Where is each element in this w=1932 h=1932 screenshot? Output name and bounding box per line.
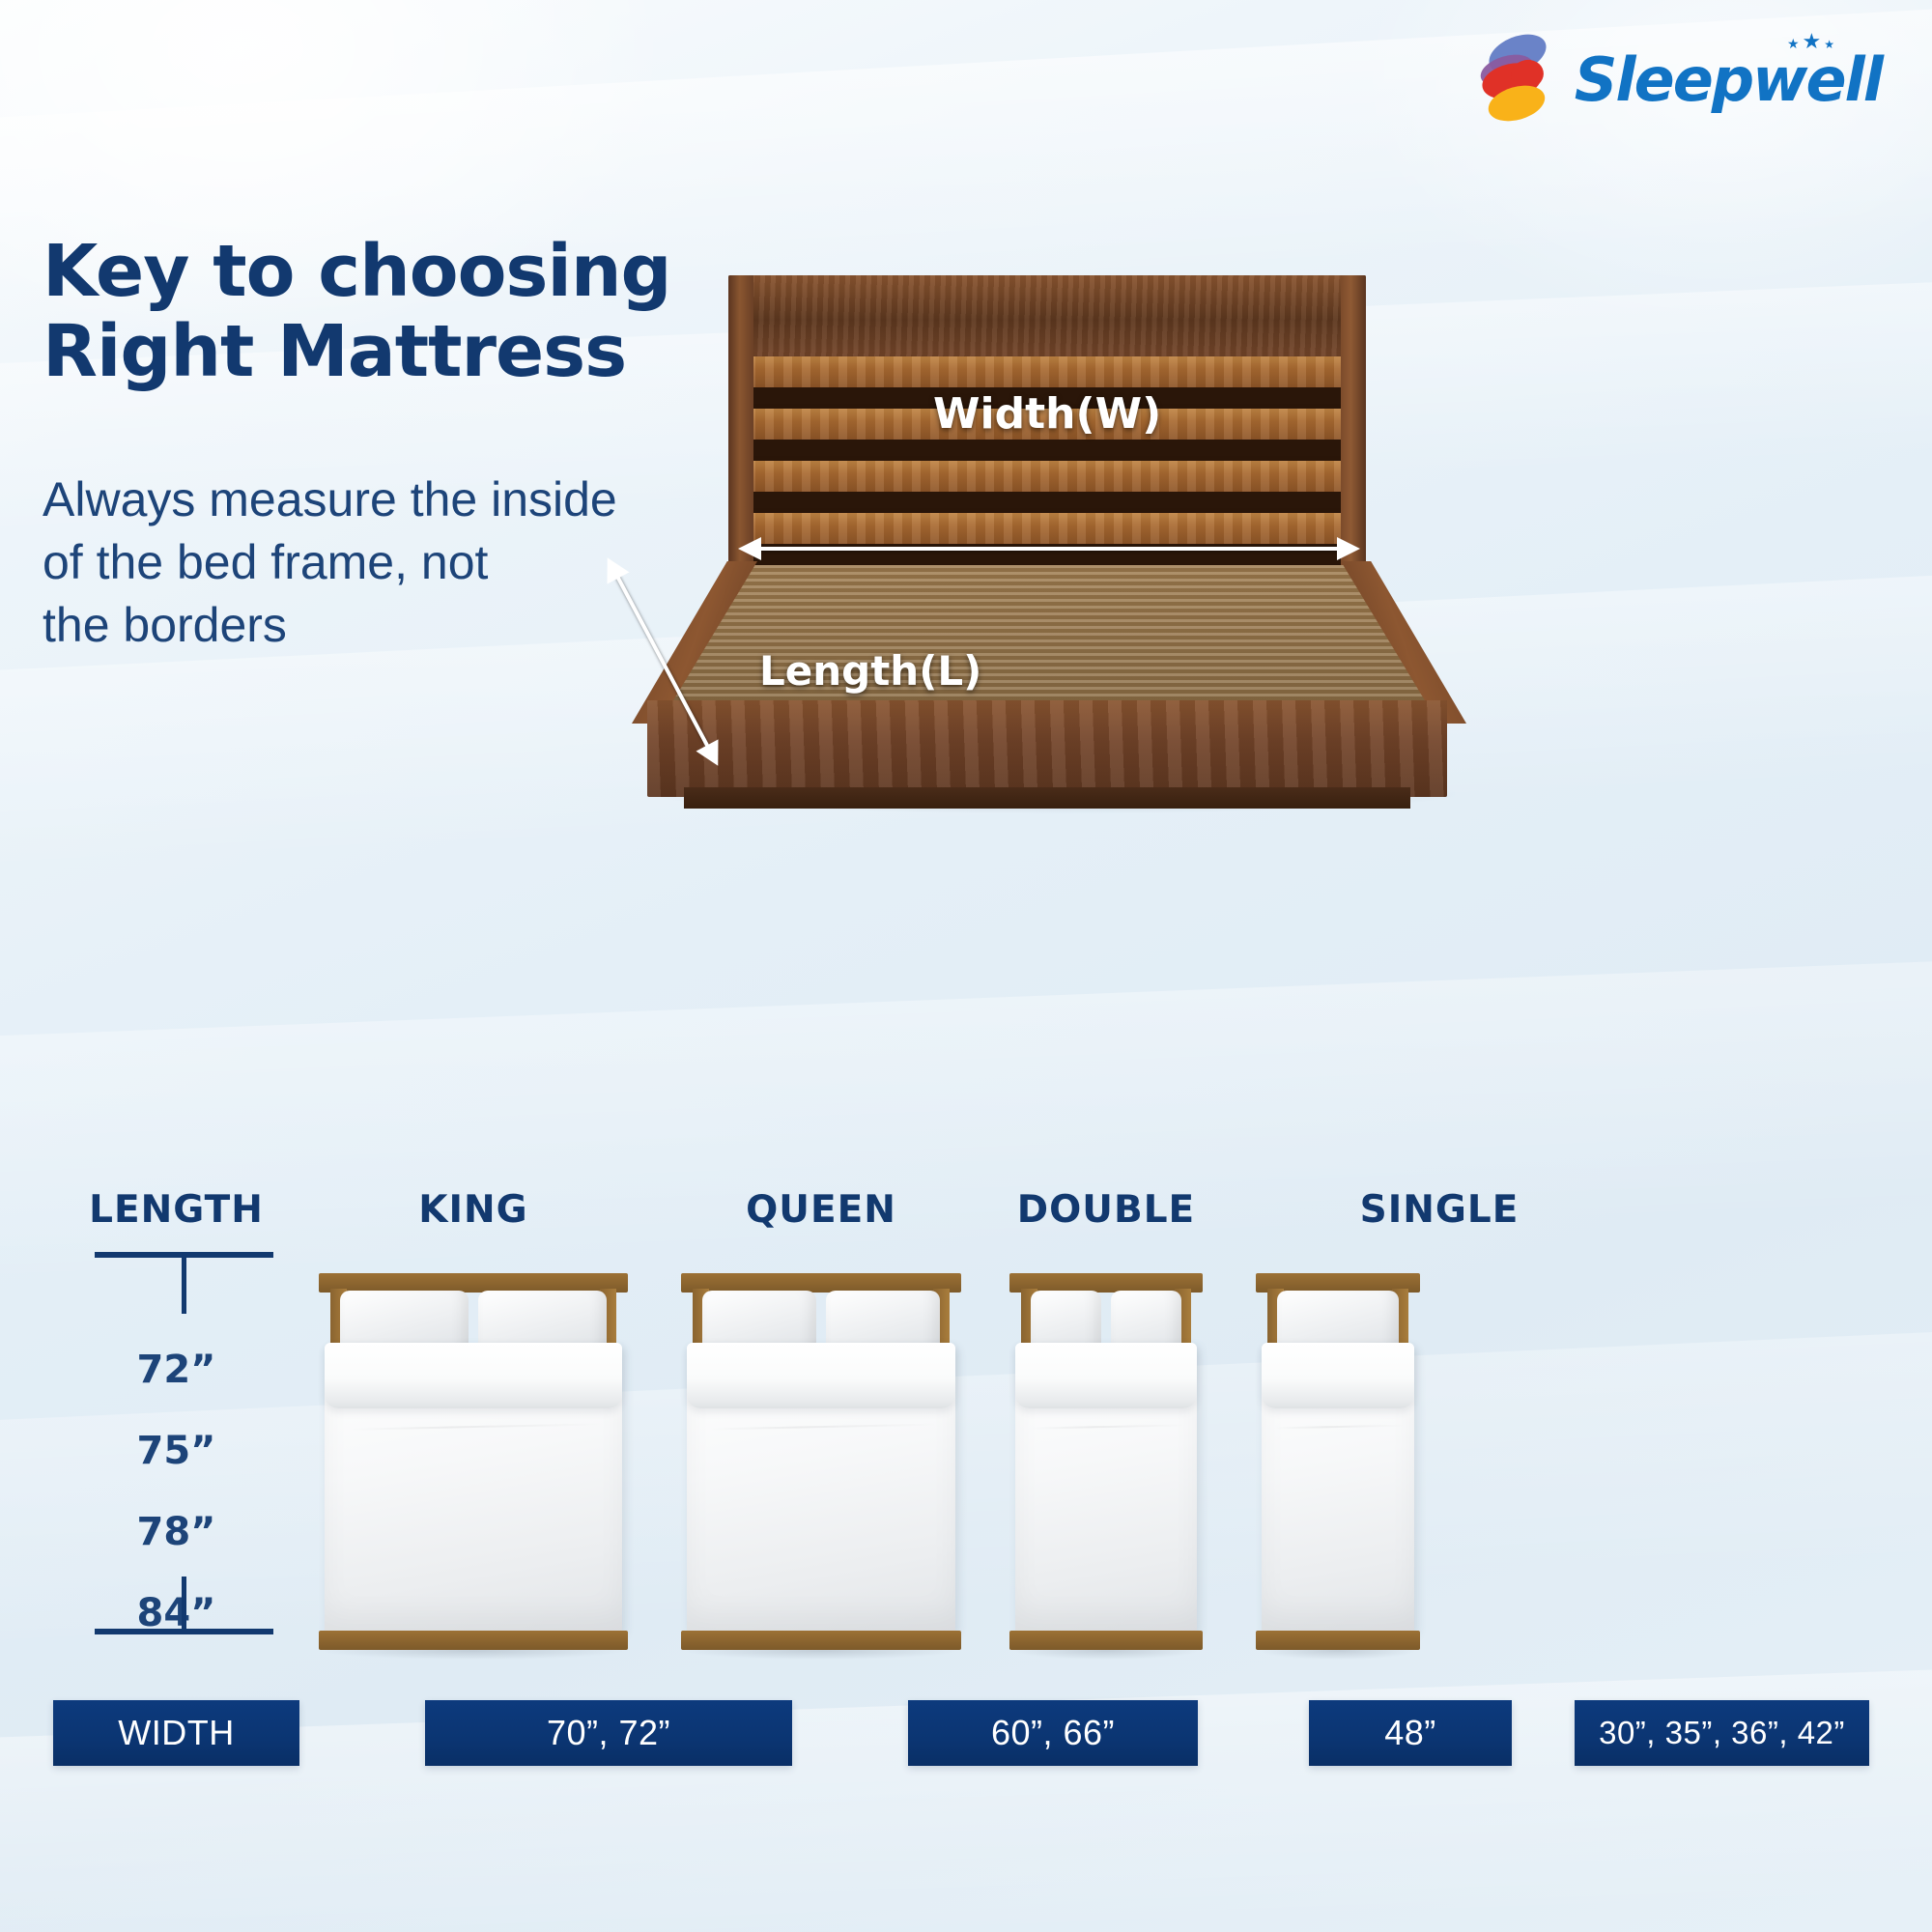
headline-line-2: Right Mattress <box>43 312 699 392</box>
bed-column-title: QUEEN <box>681 1188 961 1232</box>
bed-graphic-headboard <box>681 1273 961 1293</box>
bed-graphic-single <box>1256 1273 1420 1650</box>
length-header: LENGTH <box>53 1188 299 1232</box>
duvet-crease <box>349 1423 605 1431</box>
bed-graphic-footboard <box>319 1631 628 1650</box>
headboard-gap <box>728 440 1366 461</box>
width-label: Width(W) <box>933 389 1161 439</box>
duvet-crease <box>1274 1425 1406 1430</box>
brand-wordmark: ★★★ Sleepwell <box>1575 44 1882 115</box>
width-value-king: 70”, 72” <box>425 1700 792 1766</box>
duvet-fold <box>1262 1343 1414 1408</box>
length-scale-bottom-cap <box>95 1629 273 1634</box>
bed-graphic-footboard <box>1009 1631 1203 1650</box>
width-header-bar: WIDTH <box>53 1700 299 1766</box>
length-value: 78” <box>53 1513 299 1551</box>
length-label: Length(L) <box>759 647 981 695</box>
duvet-fold <box>687 1343 955 1408</box>
bed-graphic-footboard <box>681 1631 961 1650</box>
length-value: 72” <box>53 1350 299 1389</box>
bed-graphic-duvet <box>687 1343 955 1633</box>
bed-plinth <box>684 787 1410 809</box>
headboard-gap <box>728 492 1366 513</box>
width-arrow-icon <box>759 547 1339 551</box>
mattress-size-comparison: LENGTH 72” 75” 78” 84” KING <box>0 1188 1932 1932</box>
page-title: Key to choosing Right Mattress <box>43 232 699 392</box>
bed-column-single: SINGLE <box>1256 1188 1420 1232</box>
brand-logo[interactable]: ★★★ Sleepwell <box>1478 35 1882 124</box>
stars-icon: ★★★ <box>1787 29 1837 54</box>
bed-graphic-footboard <box>1256 1631 1420 1650</box>
bed-column-king: KING <box>319 1188 628 1232</box>
width-value-single: 30”, 35”, 36”, 42” <box>1575 1700 1869 1766</box>
headline-line-1: Key to choosing <box>43 232 699 312</box>
length-value: 75” <box>53 1432 299 1470</box>
length-values: 72” 75” 78” 84” <box>53 1350 299 1675</box>
bed-graphic-double <box>1009 1273 1203 1650</box>
length-value: 84” <box>53 1594 299 1633</box>
duvet-fold <box>1015 1343 1197 1408</box>
bed-column-queen: QUEEN <box>681 1188 961 1232</box>
bed-column-double: DOUBLE <box>1009 1188 1203 1232</box>
bed-graphic-duvet <box>1262 1343 1414 1633</box>
page-subtitle: Always measure the inside of the bed fra… <box>43 469 661 657</box>
duvet-crease <box>1030 1424 1186 1429</box>
headboard-slat <box>728 513 1366 544</box>
bed-graphic-duvet <box>1015 1343 1197 1633</box>
duvet-crease <box>708 1423 939 1430</box>
headboard-top-panel <box>728 275 1366 356</box>
length-scale-top-tick <box>182 1252 186 1314</box>
headboard-slat <box>728 356 1366 387</box>
bed-column-title: DOUBLE <box>1009 1188 1203 1232</box>
bed-graphic-king <box>319 1273 628 1650</box>
bed-footboard <box>647 700 1447 797</box>
infographic-canvas: ★★★ Sleepwell Key to choosing Right Matt… <box>0 0 1932 1932</box>
length-scale: LENGTH 72” 75” 78” 84” <box>53 1188 299 1232</box>
duvet-fold <box>325 1343 622 1408</box>
headboard-slat <box>728 461 1366 492</box>
subhead-line-3: the borders <box>43 594 661 657</box>
bed-graphic-queen <box>681 1273 961 1650</box>
subhead-line-2: of the bed frame, not <box>43 531 661 594</box>
length-scale-bottom-tick <box>182 1577 186 1634</box>
bed-column-title: KING <box>319 1188 628 1232</box>
bed-graphic-headboard <box>319 1273 628 1293</box>
brand-name: Sleepwell <box>1575 44 1882 115</box>
bed-graphic-headboard <box>1009 1273 1203 1293</box>
width-value-double: 48” <box>1309 1700 1512 1766</box>
sleepwell-swirl-logo-icon <box>1478 35 1549 124</box>
width-value-queen: 60”, 66” <box>908 1700 1198 1766</box>
bed-frame-illustration: Width(W) Length(L) <box>614 275 1484 802</box>
subhead-line-1: Always measure the inside <box>43 469 661 531</box>
bed-graphic-duvet <box>325 1343 622 1633</box>
bed-column-title: SINGLE <box>1328 1188 1550 1232</box>
